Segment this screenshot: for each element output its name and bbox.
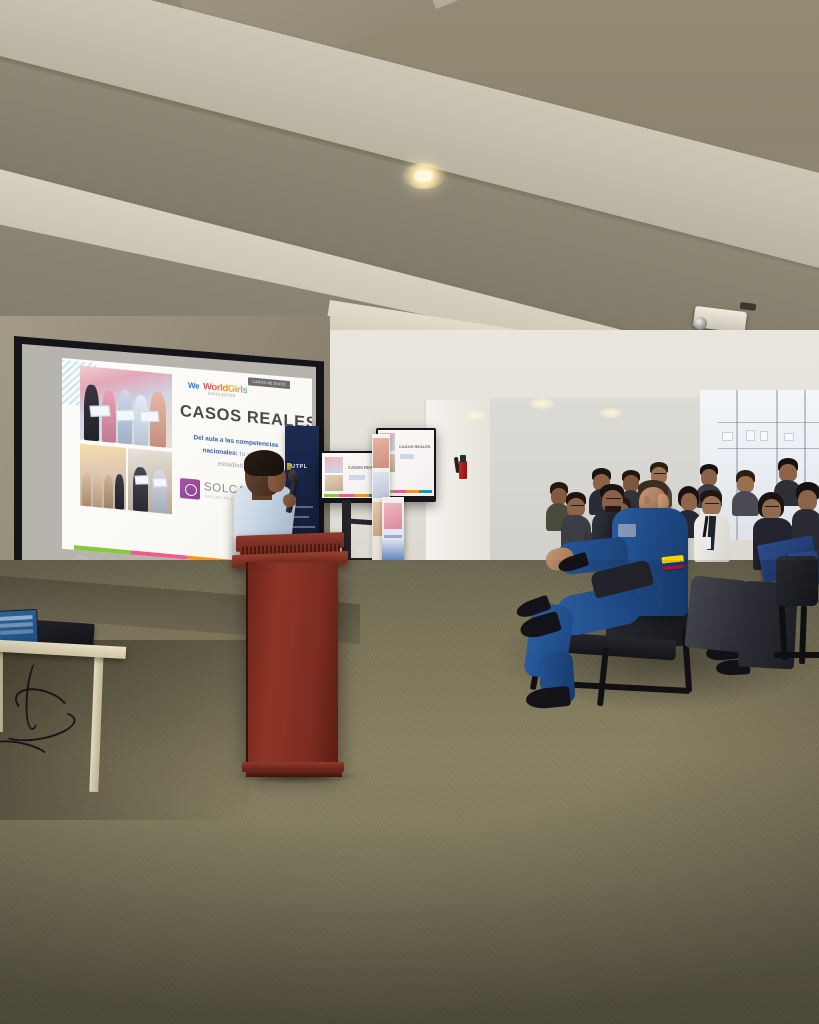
window-pane [760, 431, 768, 441]
ceiling-beam [380, 0, 819, 9]
window-floorline [718, 422, 819, 423]
slide-subtitle-line-2: nacionales: [203, 447, 238, 457]
slide-tag-label: CASOS DE EXITO [248, 377, 290, 389]
fire-extinguisher-valve [460, 455, 466, 462]
sponsor-mark-icon [180, 478, 200, 500]
fire-extinguisher-icon [459, 461, 467, 479]
window-mullion [736, 390, 738, 540]
tv-right-title: CASOS REALES [399, 444, 431, 449]
banner-pink-textline [384, 535, 402, 538]
image-vignette [0, 560, 819, 1024]
slide-photo [80, 366, 172, 449]
slide-tag-badge: CASOS DE EXITO [248, 377, 290, 389]
microphone-icon [288, 470, 298, 482]
shoulder-insignia [618, 524, 636, 537]
banner-pink-graphic [384, 503, 402, 529]
slide-photo [128, 448, 172, 514]
slide-brand-logo: We WorldGirls EDUCACION [188, 378, 246, 400]
presentation-photo: CASOS DE EXITO We WorldGirls EDUCACION C… [0, 0, 819, 1024]
window-pane [746, 430, 755, 441]
slide-photo [80, 444, 126, 510]
ceiling-downlight [530, 398, 554, 409]
ear [644, 496, 650, 504]
window-pane [784, 433, 794, 441]
speaker-hair [244, 450, 284, 476]
window-pane [722, 432, 733, 441]
ceiling-downlight [600, 408, 622, 418]
window-floorline [718, 448, 819, 449]
ceiling-downlight [466, 411, 486, 420]
logo-we-text: We [188, 381, 199, 391]
downlight-bulb [414, 170, 433, 182]
